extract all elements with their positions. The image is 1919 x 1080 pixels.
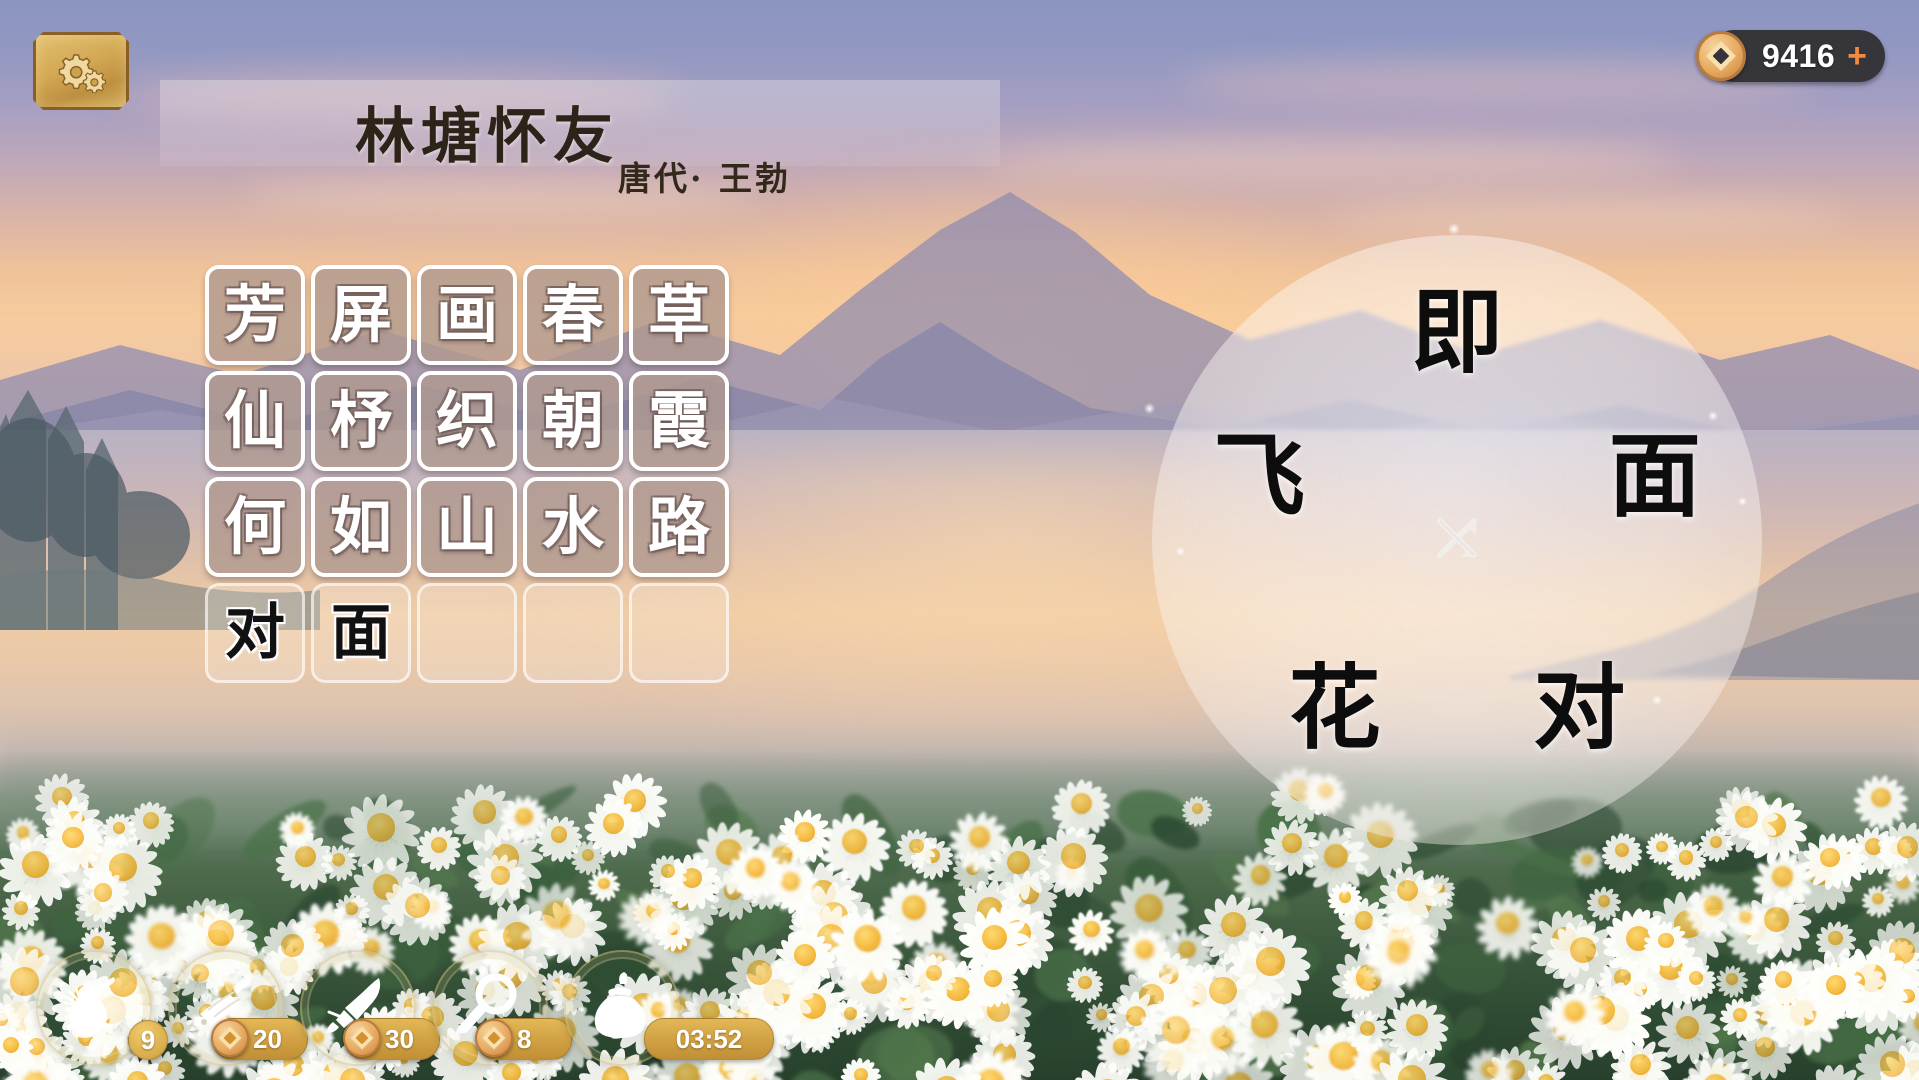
daisy-flower	[1303, 823, 1370, 890]
wheel-character[interactable]: 对	[1514, 643, 1644, 773]
daisy-flower	[279, 809, 315, 845]
grid-tile-char: 仙	[224, 390, 286, 452]
timer-badge: 03:52	[644, 1018, 774, 1060]
hint-gourd-button[interactable]: 9	[36, 950, 148, 1062]
daisy-flower	[43, 808, 102, 867]
grid-tile-char: 如	[330, 496, 392, 558]
daisy-flower	[6, 815, 40, 849]
grid-tile-char: 霞	[648, 390, 710, 452]
daisy-flower	[1602, 830, 1641, 869]
daisy-flower	[1715, 786, 1777, 848]
grid-tile-char: 画	[436, 284, 498, 346]
daisy-flower	[820, 807, 890, 877]
grid-tile-char: 芳	[224, 284, 286, 346]
answer-slot[interactable]	[629, 583, 729, 683]
grid-tile[interactable]: 如	[311, 477, 411, 577]
wheel-character[interactable]: 即	[1392, 267, 1522, 397]
grid-tile-char: 草	[648, 284, 710, 346]
daisy-flower	[1666, 837, 1706, 877]
add-currency-button[interactable]: +	[1847, 39, 1867, 73]
daisy-flower	[2, 889, 40, 927]
daisy-flower	[897, 827, 936, 866]
search-item-button[interactable]: 8	[432, 950, 544, 1062]
grid-tile-char: 朝	[542, 390, 604, 452]
grid-tile-char: 织	[436, 390, 498, 452]
grid-tile-char: 路	[648, 496, 710, 558]
grid-tile-char: 山	[436, 496, 498, 558]
daisy-flower	[1571, 844, 1602, 875]
sparkle	[1652, 695, 1662, 705]
answer-slot-char: 面	[331, 603, 391, 663]
badge-value: 9	[141, 1027, 155, 1053]
gear-icon	[55, 49, 107, 93]
grid-tile[interactable]: 春	[523, 265, 623, 365]
coin-icon	[475, 1019, 513, 1057]
wheel-character[interactable]: 花	[1270, 643, 1400, 773]
daisy-flower	[1182, 794, 1212, 824]
answer-slot[interactable]: 面	[311, 583, 411, 683]
grid-tile-char: 何	[224, 496, 286, 558]
currency-amount: 9416	[1762, 38, 1835, 75]
coin-icon	[343, 1019, 381, 1057]
timer-value: 03:52	[676, 1026, 743, 1052]
daisy-flower	[475, 850, 526, 901]
daisy-flower	[570, 838, 605, 873]
grid-tile[interactable]: 杼	[311, 371, 411, 471]
grid-tile[interactable]: 草	[629, 265, 729, 365]
answer-slot[interactable]: 对	[205, 583, 305, 683]
currency-display[interactable]: 9416 +	[1696, 30, 1885, 82]
grid-tile[interactable]: 仙	[205, 371, 305, 471]
grid-tile[interactable]: 何	[205, 477, 305, 577]
daisy-flower	[321, 842, 357, 878]
answer-slot-char: 对	[225, 603, 285, 663]
daisy-flower	[1854, 771, 1907, 824]
cost-badge: 20	[212, 1018, 308, 1060]
daisy-flower	[383, 870, 453, 940]
rocket-item-button[interactable]: 30	[300, 950, 412, 1062]
page-title: 林塘怀友	[355, 88, 619, 175]
badge-value: 20	[253, 1026, 282, 1052]
character-wheel[interactable]: 即面对花飞	[1152, 235, 1762, 845]
daisy-flower	[1233, 848, 1287, 902]
badge-value: 8	[517, 1026, 531, 1052]
sparkle	[1176, 547, 1185, 556]
character-grid: 芳屏画春草仙杼织朝霞何如山水路对面	[205, 265, 729, 683]
sparkle	[1448, 223, 1460, 235]
grid-tile[interactable]: 水	[523, 477, 623, 577]
daisy-flower	[648, 851, 687, 890]
grid-tile[interactable]: 霞	[629, 371, 729, 471]
grid-tile[interactable]: 画	[417, 265, 517, 365]
game-screen: 9416 + 林塘怀友 唐代· 王勃 芳屏画春草仙杼织朝霞何如山水路对面	[0, 0, 1919, 1080]
wheel-character[interactable]: 飞	[1194, 411, 1324, 541]
poem-author: 唐代· 王勃	[618, 152, 791, 200]
daisy-flower	[1862, 883, 1894, 915]
grid-tile-char: 屏	[330, 284, 392, 346]
answer-slot[interactable]	[523, 583, 623, 683]
grid-tile-char: 水	[542, 496, 604, 558]
coin-icon	[1696, 31, 1746, 81]
daisy-flower	[987, 831, 1051, 895]
grid-tile[interactable]: 芳	[205, 265, 305, 365]
scroll-item-button[interactable]: 20	[168, 950, 280, 1062]
grid-tile[interactable]: 织	[417, 371, 517, 471]
grid-tile-char: 杼	[330, 390, 392, 452]
coin-icon	[211, 1019, 249, 1057]
grid-tile[interactable]: 屏	[311, 265, 411, 365]
shuffle-icon	[1430, 511, 1484, 570]
grid-tile-char: 春	[542, 284, 604, 346]
answer-slot[interactable]	[417, 583, 517, 683]
shuffle-button[interactable]	[1397, 480, 1517, 600]
daisy-flower	[1379, 861, 1438, 920]
sparkle	[1738, 497, 1747, 506]
grid-tile[interactable]: 山	[417, 477, 517, 577]
cost-badge: 30	[344, 1018, 440, 1060]
count-badge: 9	[128, 1020, 168, 1060]
settings-button[interactable]	[33, 32, 129, 110]
daisy-flower	[728, 841, 783, 896]
sparkle	[1144, 403, 1155, 414]
daisy-flower	[1729, 900, 1763, 934]
timer-pouch-button[interactable]: 03:52	[564, 950, 676, 1062]
daisy-flower	[417, 823, 461, 867]
daisy-flower	[77, 867, 129, 919]
wheel-character[interactable]: 面	[1590, 411, 1720, 541]
bottom-toolbar: 92030803:52	[0, 940, 1919, 1080]
grid-tile[interactable]: 朝	[523, 371, 623, 471]
cost-badge: 8	[476, 1018, 572, 1060]
grid-tile[interactable]: 路	[629, 477, 729, 577]
badge-value: 30	[385, 1026, 414, 1052]
